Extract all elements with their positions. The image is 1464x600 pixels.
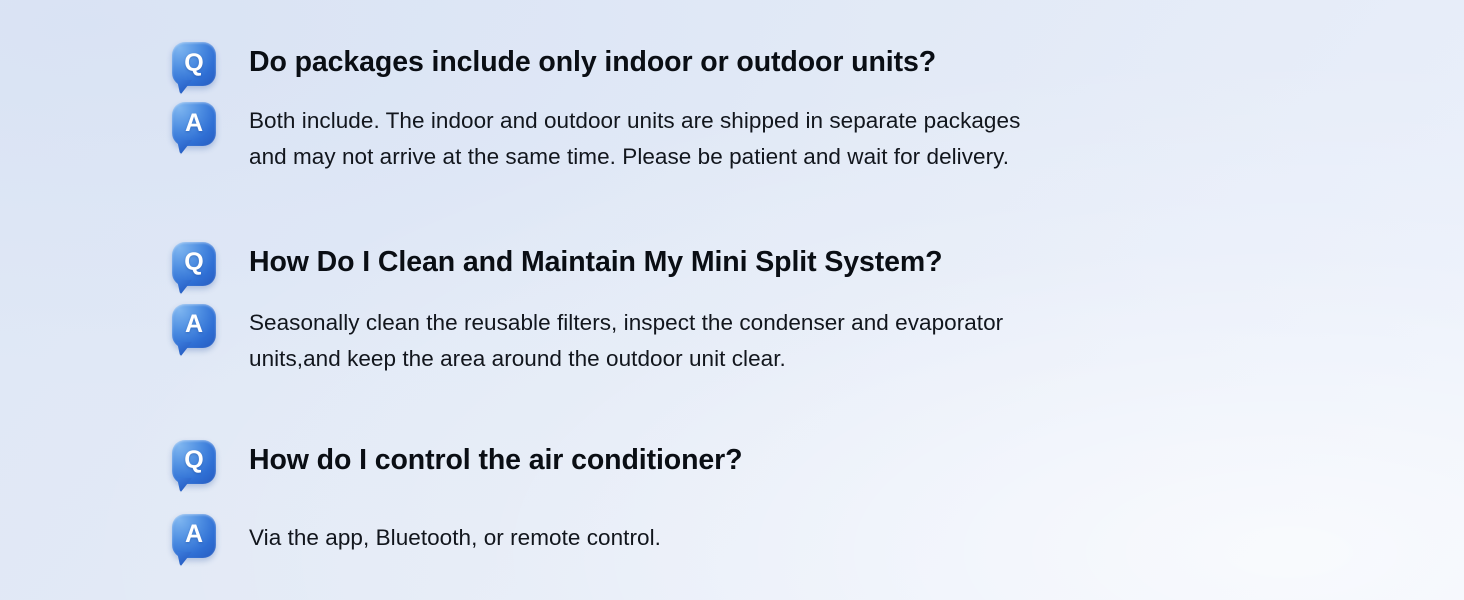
faq-answer-line: units,and keep the area around the outdo…	[249, 341, 1003, 377]
answer-bubble-letter: A	[185, 522, 203, 547]
faq-question-row: Q Do packages include only indoor or out…	[172, 42, 1332, 86]
faq-item: Q Do packages include only indoor or out…	[172, 42, 1332, 176]
faq-question-text-column: How do I control the air conditioner?	[249, 440, 742, 477]
faq-answer-text-column: Both include. The indoor and outdoor uni…	[249, 102, 1020, 176]
faq-item: Q How Do I Clean and Maintain My Mini Sp…	[172, 242, 1332, 378]
answer-bubble-icon: A	[172, 514, 216, 558]
faq-answer-line: Both include. The indoor and outdoor uni…	[249, 103, 1020, 139]
faq-question-text-column: Do packages include only indoor or outdo…	[249, 42, 936, 79]
answer-bubble-icon: A	[172, 304, 216, 348]
faq-answer-line: Seasonally clean the reusable filters, i…	[249, 305, 1003, 341]
answer-bubble-letter: A	[185, 111, 203, 136]
faq-graphic: Q Do packages include only indoor or out…	[0, 0, 1464, 600]
faq-answer-line: Via the app, Bluetooth, or remote contro…	[249, 520, 661, 556]
faq-question-row: Q How Do I Clean and Maintain My Mini Sp…	[172, 242, 1332, 286]
faq-answer-row: A Seasonally clean the reusable filters,…	[172, 304, 1332, 378]
question-bubble-letter: Q	[184, 51, 203, 76]
question-bubble-icon: Q	[172, 42, 216, 86]
question-bubble-icon: Q	[172, 242, 216, 286]
faq-question-row: Q How do I control the air conditioner?	[172, 440, 1332, 484]
faq-answer-row: A Via the app, Bluetooth, or remote cont…	[172, 514, 1332, 558]
question-bubble-letter: Q	[184, 250, 203, 275]
question-bubble-icon: Q	[172, 440, 216, 484]
answer-bubble-icon: A	[172, 102, 216, 146]
answer-bubble-letter: A	[185, 312, 203, 337]
faq-question: How Do I Clean and Maintain My Mini Spli…	[249, 245, 942, 279]
faq-answer-line: and may not arrive at the same time. Ple…	[249, 139, 1020, 175]
question-bubble-letter: Q	[184, 448, 203, 473]
faq-answer-row: A Both include. The indoor and outdoor u…	[172, 102, 1332, 176]
faq-item: Q How do I control the air conditioner? …	[172, 440, 1332, 558]
faq-question: How do I control the air conditioner?	[249, 443, 742, 477]
faq-question: Do packages include only indoor or outdo…	[249, 45, 936, 79]
faq-answer-text-column: Via the app, Bluetooth, or remote contro…	[249, 514, 661, 556]
faq-question-text-column: How Do I Clean and Maintain My Mini Spli…	[249, 242, 942, 279]
faq-answer-text-column: Seasonally clean the reusable filters, i…	[249, 304, 1003, 378]
faq-list: Q Do packages include only indoor or out…	[172, 42, 1332, 558]
